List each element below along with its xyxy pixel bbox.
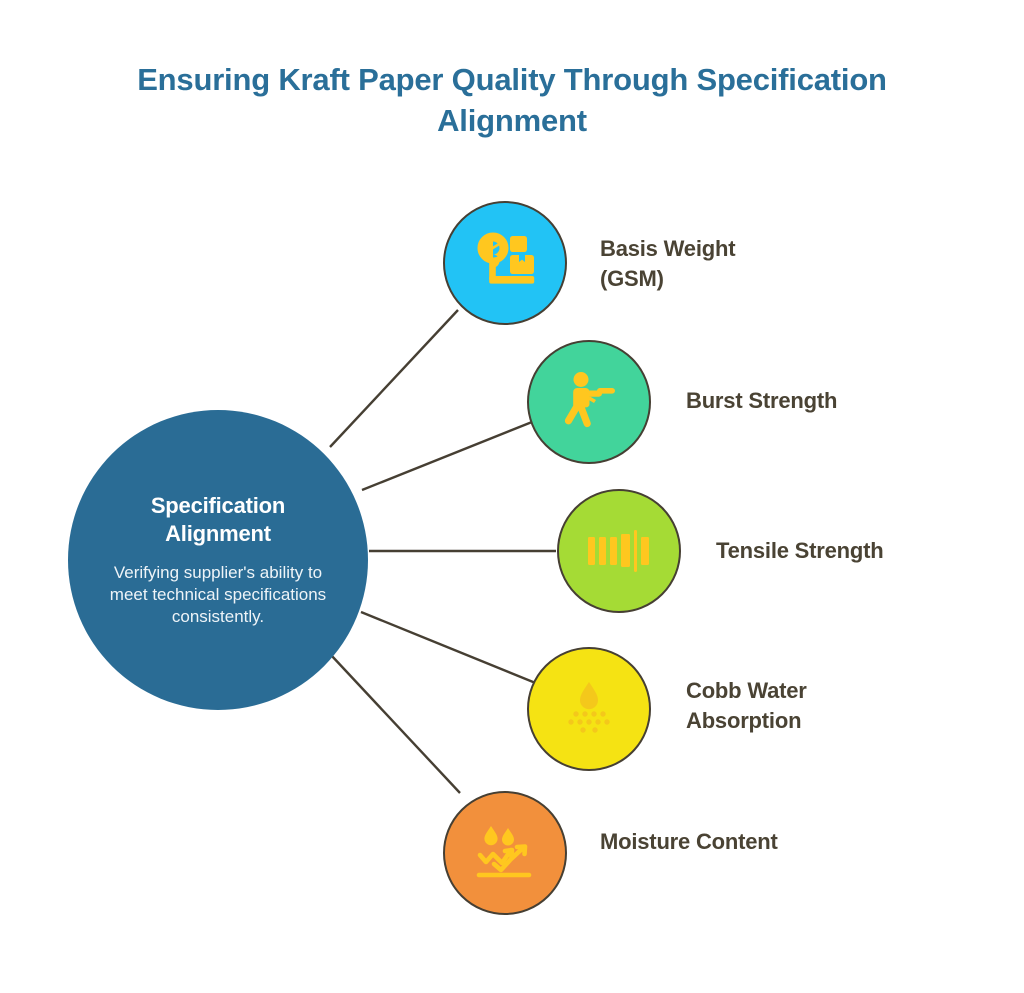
connector-line-1 — [330, 310, 458, 447]
node-label-basis-weight: Basis Weight (GSM) — [600, 234, 850, 293]
node-burst-strength[interactable] — [527, 340, 651, 464]
node-label-line1: Moisture Content — [600, 827, 870, 857]
node-label-line1: Burst Strength — [686, 386, 946, 416]
node-label-line2: Absorption — [686, 706, 946, 736]
moisture-trend-icon — [471, 822, 539, 884]
node-label-burst-strength: Burst Strength — [686, 386, 946, 416]
node-label-cobb-water-absorption: Cobb Water Absorption — [686, 676, 946, 735]
node-moisture-content[interactable] — [443, 791, 567, 915]
node-label-line2: (GSM) — [600, 264, 850, 294]
person-pointing-icon — [559, 371, 619, 433]
infographic-canvas: Ensuring Kraft Paper Quality Through Spe… — [0, 0, 1024, 993]
node-label-tensile-strength: Tensile Strength — [716, 536, 986, 566]
node-label-line1: Basis Weight — [600, 234, 850, 264]
hub-specification-alignment[interactable]: Specification Alignment Verifying suppli… — [68, 410, 368, 710]
node-label-line1: Tensile Strength — [716, 536, 986, 566]
connector-line-5 — [331, 655, 460, 793]
node-label-line1: Cobb Water — [686, 676, 946, 706]
connector-line-2 — [362, 420, 537, 490]
connector-line-4 — [361, 612, 538, 684]
node-cobb-water-absorption[interactable] — [527, 647, 651, 771]
hub-description: Verifying supplier's ability to meet tec… — [102, 562, 334, 628]
node-label-moisture-content: Moisture Content — [600, 827, 870, 857]
node-basis-weight[interactable] — [443, 201, 567, 325]
page-title: Ensuring Kraft Paper Quality Through Spe… — [62, 60, 962, 142]
vertical-bars-icon — [586, 528, 652, 574]
hub-title: Specification Alignment — [102, 492, 334, 548]
node-tensile-strength[interactable] — [557, 489, 681, 613]
weighing-scale-icon — [472, 232, 538, 294]
water-droplet-absorption-icon — [556, 678, 622, 740]
